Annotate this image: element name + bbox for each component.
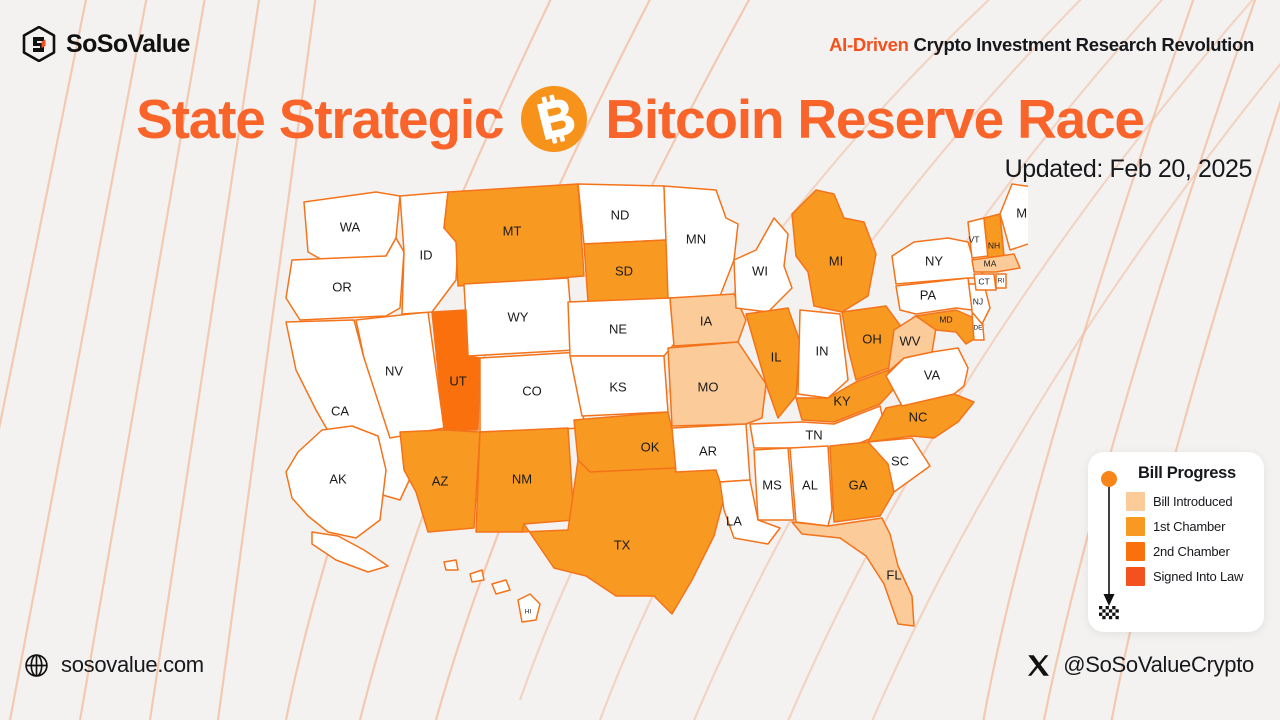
state-label-LA: LA xyxy=(726,513,742,528)
legend-swatch xyxy=(1126,492,1145,511)
state-label-SD: SD xyxy=(615,263,633,278)
legend-label: 2nd Chamber xyxy=(1153,544,1230,559)
legend-item-2nd-chamber[interactable]: 2nd Chamber xyxy=(1126,542,1254,561)
state-label-PA: PA xyxy=(920,287,937,302)
state-label-UT: UT xyxy=(449,373,466,388)
state-label-NJ: NJ xyxy=(973,296,983,306)
state-label-NY: NY xyxy=(925,253,943,268)
state-label-OK: OK xyxy=(641,439,660,454)
state-label-DE: DE xyxy=(973,325,983,332)
cube-logo-icon xyxy=(22,26,56,62)
state-MI[interactable] xyxy=(792,190,876,312)
legend-swatch xyxy=(1126,517,1145,536)
state-label-WV: WV xyxy=(900,333,921,348)
title-right: Bitcoin Reserve Race xyxy=(605,92,1144,147)
start-dot-icon xyxy=(1101,471,1117,487)
state-label-NM: NM xyxy=(512,471,532,486)
brand-logo[interactable]: SoSoValue xyxy=(22,26,190,62)
state-label-FL: FL xyxy=(886,567,901,582)
state-label-TX: TX xyxy=(614,537,631,552)
state-label-MN: MN xyxy=(686,231,706,246)
legend-item-signed-into-law[interactable]: Signed Into Law xyxy=(1126,567,1254,586)
state-label-SC: SC xyxy=(891,453,909,468)
state-label-CA: CA xyxy=(331,403,349,418)
us-choropleth-map: WA OR CA NV ID MT WY UT CO AZ NM ND SD N… xyxy=(268,180,1028,650)
state-label-NE: NE xyxy=(609,321,627,336)
state-label-OR: OR xyxy=(332,279,352,294)
legend-swatch xyxy=(1126,542,1145,561)
social-label: @SoSoValueCrypto xyxy=(1063,652,1254,678)
title-left: State Strategic xyxy=(136,92,503,147)
state-label-KS: KS xyxy=(609,379,627,394)
state-label-HI: HI xyxy=(525,609,532,616)
state-label-GA: GA xyxy=(849,477,868,492)
state-label-AK: AK xyxy=(329,471,347,486)
state-label-WA: WA xyxy=(340,219,361,234)
tagline-highlight: AI-Driven xyxy=(829,34,909,55)
state-label-MA: MA xyxy=(984,258,997,268)
state-label-KY: KY xyxy=(833,393,851,408)
tagline: AI-Driven Crypto Investment Research Rev… xyxy=(829,34,1254,56)
state-label-MD: MD xyxy=(939,314,952,324)
state-label-CO: CO xyxy=(522,383,542,398)
state-HI-3[interactable] xyxy=(470,570,484,582)
checkered-flag-icon xyxy=(1099,606,1119,619)
legend-panel: Bill Progress Bill Introduced 1st Chambe… xyxy=(1088,452,1264,632)
brand-name: SoSoValue xyxy=(66,30,190,59)
state-label-RI: RI xyxy=(998,278,1005,285)
state-label-AL: AL xyxy=(802,477,818,492)
state-label-AR: AR xyxy=(699,443,717,458)
state-AK-aleutian[interactable] xyxy=(312,532,388,572)
legend-label: 1st Chamber xyxy=(1153,519,1225,534)
state-shapes xyxy=(286,184,1028,626)
infographic-canvas: SoSoValue AI-Driven Crypto Investment Re… xyxy=(0,0,1280,720)
bitcoin-icon xyxy=(519,84,589,154)
state-label-VT: VT xyxy=(969,234,980,244)
legend-swatch xyxy=(1126,567,1145,586)
state-NH[interactable] xyxy=(984,214,1004,258)
state-label-MT: MT xyxy=(503,223,522,238)
state-label-OH: OH xyxy=(862,331,882,346)
website-label: sosovalue.com xyxy=(61,652,204,678)
globe-icon xyxy=(24,653,49,678)
state-label-ME: ME xyxy=(1016,205,1028,220)
legend-label: Bill Introduced xyxy=(1153,494,1232,509)
state-label-TN: TN xyxy=(805,427,822,442)
legend-label: Signed Into Law xyxy=(1153,569,1243,584)
tagline-rest: Crypto Investment Research Revolution xyxy=(914,34,1254,55)
updated-date: Updated: Feb 20, 2025 xyxy=(1005,155,1252,184)
page-title: State Strategic Bitcoin Reserve Race xyxy=(0,84,1280,154)
state-HI-2[interactable] xyxy=(492,580,510,594)
state-label-NC: NC xyxy=(909,409,928,424)
state-label-WI: WI xyxy=(752,263,768,278)
state-label-NV: NV xyxy=(385,363,403,378)
legend-title: Bill Progress xyxy=(1120,464,1254,483)
legend-items: Bill Introduced 1st Chamber 2nd Chamber … xyxy=(1126,492,1254,586)
legend-item-bill-introduced[interactable]: Bill Introduced xyxy=(1126,492,1254,511)
state-label-VA: VA xyxy=(924,367,941,382)
website-link[interactable]: sosovalue.com xyxy=(24,652,204,678)
state-label-MS: MS xyxy=(762,477,782,492)
x-twitter-icon xyxy=(1026,653,1051,678)
state-label-MO: MO xyxy=(698,379,719,394)
state-HI-4[interactable] xyxy=(444,560,458,570)
state-label-ND: ND xyxy=(611,207,630,222)
state-label-ID: ID xyxy=(420,247,433,262)
state-label-MI: MI xyxy=(829,253,843,268)
progress-arrow xyxy=(1096,470,1124,622)
legend-item-1st-chamber[interactable]: 1st Chamber xyxy=(1126,517,1254,536)
state-label-CT: CT xyxy=(978,276,989,286)
state-label-IN: IN xyxy=(816,343,829,358)
state-label-WY: WY xyxy=(508,309,529,324)
state-label-IA: IA xyxy=(700,313,713,328)
state-label-AZ: AZ xyxy=(432,473,449,488)
state-label-NH: NH xyxy=(988,240,1000,250)
state-label-IL: IL xyxy=(771,349,782,364)
social-link[interactable]: @SoSoValueCrypto xyxy=(1026,652,1254,678)
